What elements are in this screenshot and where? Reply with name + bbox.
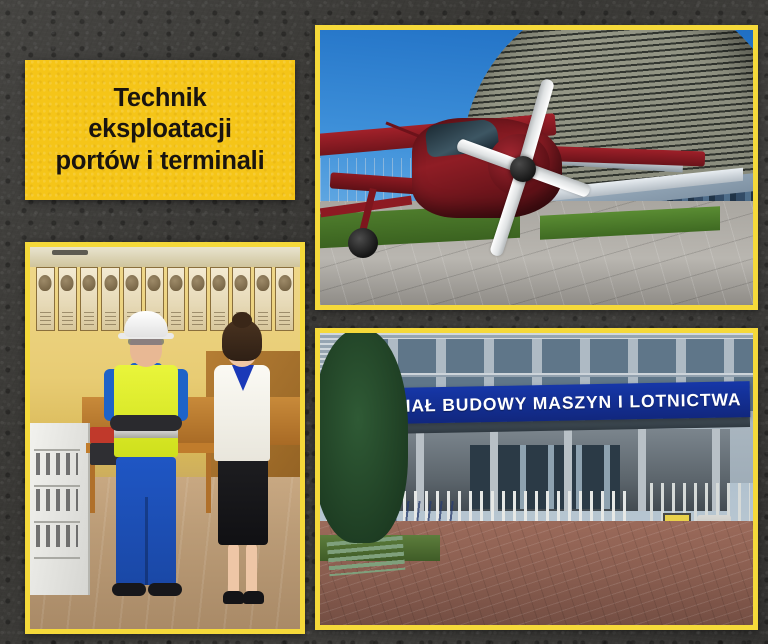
ceiling-lamp bbox=[52, 250, 88, 255]
title-line-3: portów i terminali bbox=[56, 146, 265, 178]
display-cabinet bbox=[30, 423, 90, 595]
page-title: Technik eksploatacji portów i terminali bbox=[50, 83, 271, 178]
safety-glasses bbox=[128, 338, 164, 345]
blue-coveralls bbox=[116, 457, 176, 585]
landing-gear-wheel bbox=[348, 228, 378, 258]
window-row-upper bbox=[350, 339, 753, 373]
student-in-hi-vis-vest bbox=[100, 311, 192, 611]
photo-collage: Technik eksploatacji portów i terminali bbox=[0, 0, 768, 644]
faculty-name-text: WYDZIAŁ BUDOWY MASZYN I LOTNICTWA bbox=[350, 389, 741, 418]
title-card: Technik eksploatacji portów i terminali bbox=[25, 60, 295, 200]
student-in-uniform-blouse bbox=[202, 319, 282, 611]
photo-students-in-uniforms bbox=[25, 242, 305, 634]
hi-vis-vest bbox=[114, 365, 178, 457]
title-line-2: eksploatacji bbox=[56, 114, 265, 146]
photo-faculty-entrance: WYDZIAŁ BUDOWY MASZYN I LOTNICTWA bbox=[315, 328, 758, 630]
title-line-1: Technik bbox=[56, 83, 265, 115]
conifer-tree bbox=[320, 333, 408, 543]
portrait-3 bbox=[80, 267, 99, 331]
portrait-2 bbox=[58, 267, 77, 331]
black-skirt bbox=[218, 459, 268, 545]
photo-students-with-biplane bbox=[315, 25, 758, 310]
hard-hat bbox=[124, 311, 168, 337]
propeller-hub bbox=[510, 156, 536, 182]
portrait-1 bbox=[36, 267, 55, 331]
